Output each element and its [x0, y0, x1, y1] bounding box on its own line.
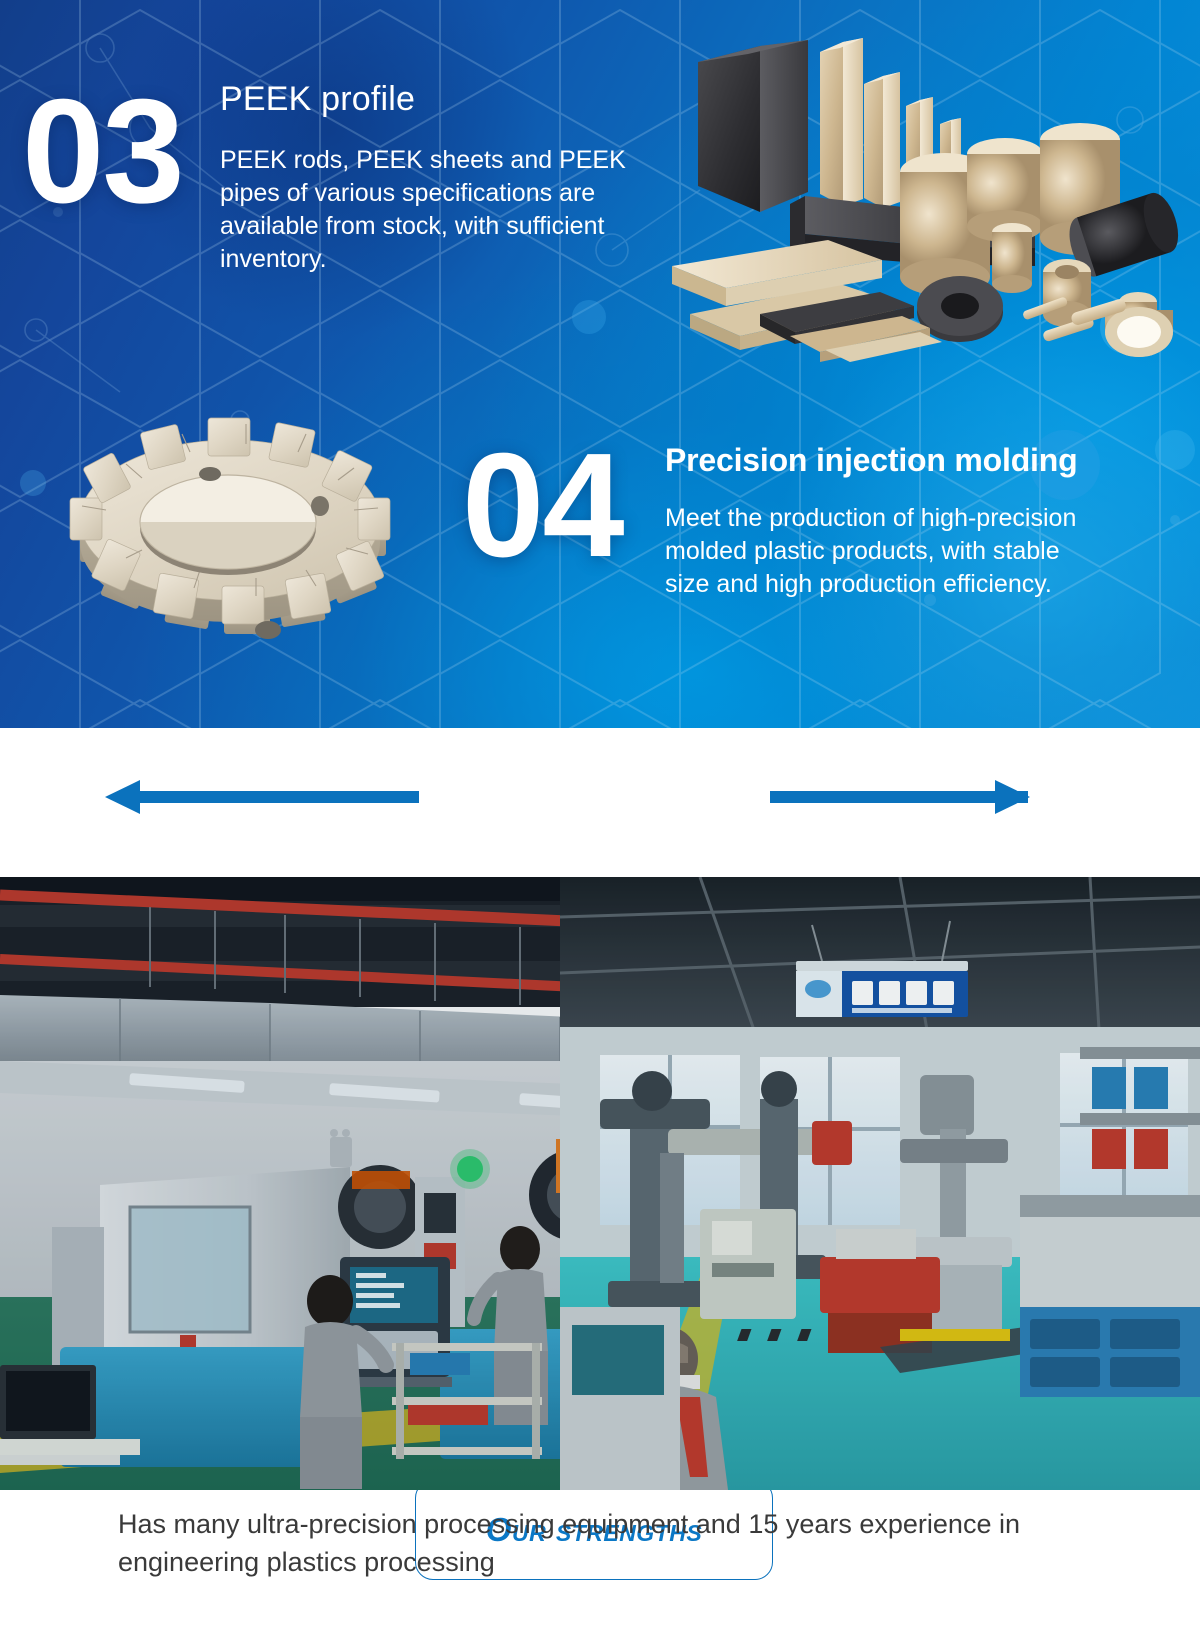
peek-gear-part-photo: [30, 388, 430, 668]
workshop-photo-pair: [0, 877, 1200, 1490]
double-arrow-rule: [0, 728, 1200, 877]
decor-circle: [1155, 430, 1195, 470]
left-arrow-icon: [105, 780, 419, 814]
bottom-caption: Has many ultra-precision processing equi…: [118, 1505, 1118, 1582]
peek-profiles-photo: [630, 14, 1190, 364]
feature-number-04: 04: [462, 432, 623, 580]
mold-workshop-photo: [0, 877, 1200, 1490]
promo-page: 03 PEEK profile PEEK rods, PEEK sheets a…: [0, 0, 1200, 1638]
our-strengths-banner: Our strengths: [0, 728, 1200, 877]
feature-title-04: Precision injection molding: [665, 442, 1077, 479]
right-arrow-icon: [770, 780, 1030, 814]
features-blue-panel: 03 PEEK profile PEEK rods, PEEK sheets a…: [0, 0, 1200, 728]
decor-circle: [572, 300, 606, 334]
feature-title-03: PEEK profile: [220, 80, 415, 119]
feature-number-03: 03: [22, 78, 183, 226]
feature-description-04: Meet the production of high-precision mo…: [665, 502, 1105, 601]
feature-description-03: PEEK rods, PEEK sheets and PEEK pipes of…: [220, 144, 650, 276]
